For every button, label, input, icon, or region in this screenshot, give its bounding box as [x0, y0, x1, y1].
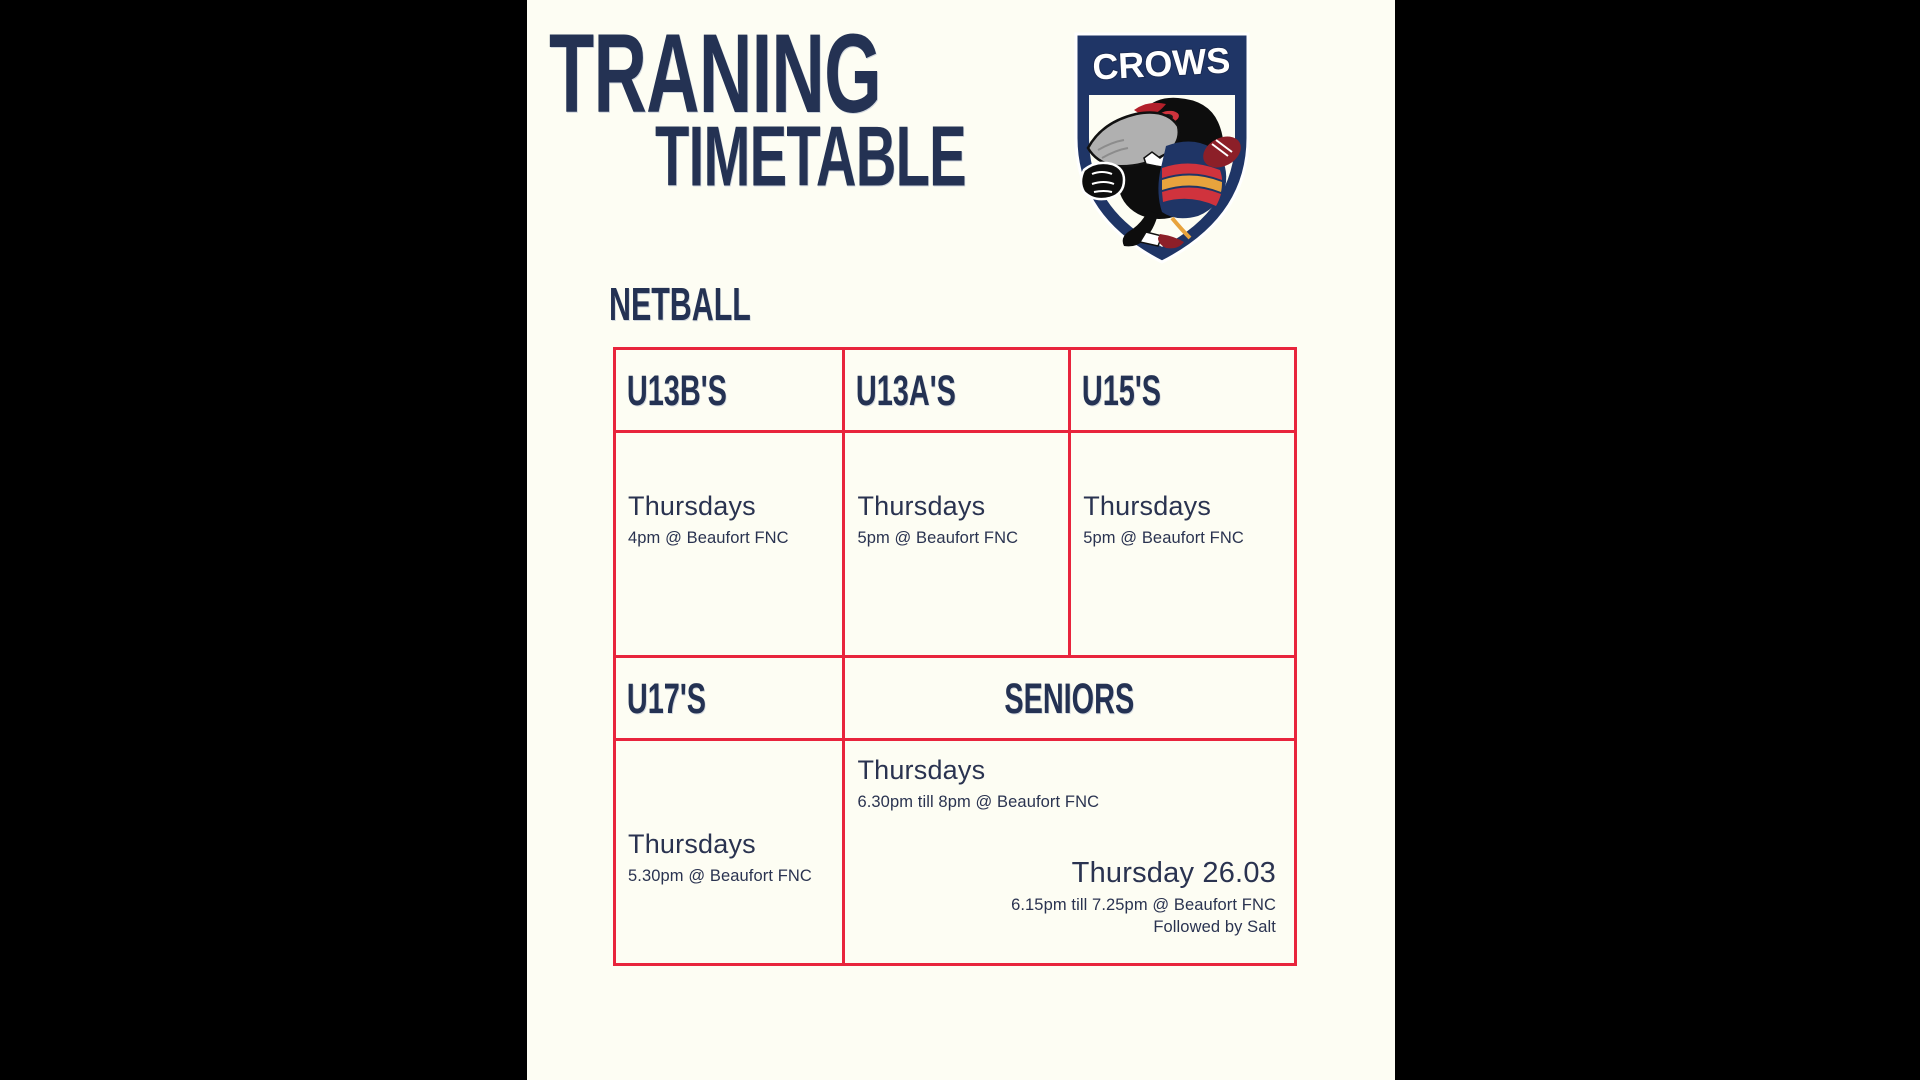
table-header-cell-seniors: SENIORS	[842, 658, 1294, 738]
schedule-entry: Thursdays 5pm @ Beaufort FNC	[1083, 491, 1244, 548]
poster-header: TRANING TIMETABLE CROWS	[527, 0, 1395, 300]
table-header-cell-u13b: U13B'S	[616, 350, 842, 430]
table-header-row-1: U13B'S U13A'S U15'S	[616, 350, 1294, 433]
poster-title-line-2: TIMETABLE	[655, 115, 966, 200]
table-header-label: U17'S	[616, 677, 706, 720]
table-header-label: U13A'S	[845, 369, 956, 412]
schedule-entry: Thursdays 5pm @ Beaufort FNC	[857, 491, 1018, 548]
letterbox-right	[1395, 0, 1920, 1080]
letterbox-left	[0, 0, 527, 1080]
table-header-cell-u13a: U13A'S	[842, 350, 1068, 430]
schedule-special-date: Thursday 26.03	[1011, 856, 1276, 890]
table-body-row-1: Thursdays 4pm @ Beaufort FNC Thursdays 5…	[616, 433, 1294, 658]
table-cell-u15: Thursdays 5pm @ Beaufort FNC	[1068, 433, 1294, 655]
schedule-day: Thursdays	[857, 755, 1099, 787]
schedule-special-detail: 6.15pm till 7.25pm @ Beaufort FNC	[1011, 896, 1276, 915]
poster-stage: TRANING TIMETABLE CROWS	[0, 0, 1920, 1080]
table-body-row-2: Thursdays 5.30pm @ Beaufort FNC Thursday…	[616, 741, 1294, 963]
schedule-detail: 5.30pm @ Beaufort FNC	[628, 867, 812, 886]
schedule-detail: 5pm @ Beaufort FNC	[1083, 529, 1244, 548]
schedule-day: Thursdays	[1083, 491, 1244, 523]
schedule-day: Thursdays	[628, 491, 789, 523]
schedule-detail: 6.30pm till 8pm @ Beaufort FNC	[857, 793, 1099, 812]
schedule-entry-special: Thursday 26.03 6.15pm till 7.25pm @ Beau…	[1011, 856, 1276, 937]
schedule-entry-primary: Thursdays 6.30pm till 8pm @ Beaufort FNC	[857, 755, 1099, 812]
table-header-row-2: U17'S SENIORS	[616, 658, 1294, 741]
timetable: U13B'S U13A'S U15'S Thursdays 4pm @ Beau…	[613, 347, 1297, 966]
schedule-entry: Thursdays 5.30pm @ Beaufort FNC	[628, 829, 812, 886]
table-cell-u13b: Thursdays 4pm @ Beaufort FNC	[616, 433, 842, 655]
table-header-cell-u15: U15'S	[1068, 350, 1294, 430]
schedule-special-note: Followed by Salt	[1011, 918, 1276, 937]
schedule-entry: Thursdays 4pm @ Beaufort FNC	[628, 491, 789, 548]
crows-logo: CROWS	[1062, 18, 1262, 268]
table-cell-u17: Thursdays 5.30pm @ Beaufort FNC	[616, 741, 842, 963]
table-header-label: U15'S	[1071, 369, 1161, 412]
schedule-detail: 5pm @ Beaufort FNC	[857, 529, 1018, 548]
table-cell-seniors: Thursdays 6.30pm till 8pm @ Beaufort FNC…	[842, 741, 1294, 963]
poster-page: TRANING TIMETABLE CROWS	[527, 0, 1395, 1080]
table-header-label: U13B'S	[616, 369, 727, 412]
section-title-netball: NETBALL	[609, 282, 751, 328]
schedule-day: Thursdays	[857, 491, 1018, 523]
table-header-label: SENIORS	[895, 677, 1245, 720]
schedule-day: Thursdays	[628, 829, 812, 861]
table-header-cell-u17: U17'S	[616, 658, 842, 738]
crows-banner-text: CROWS	[1091, 39, 1231, 87]
table-cell-u13a: Thursdays 5pm @ Beaufort FNC	[842, 433, 1068, 655]
schedule-detail: 4pm @ Beaufort FNC	[628, 529, 789, 548]
